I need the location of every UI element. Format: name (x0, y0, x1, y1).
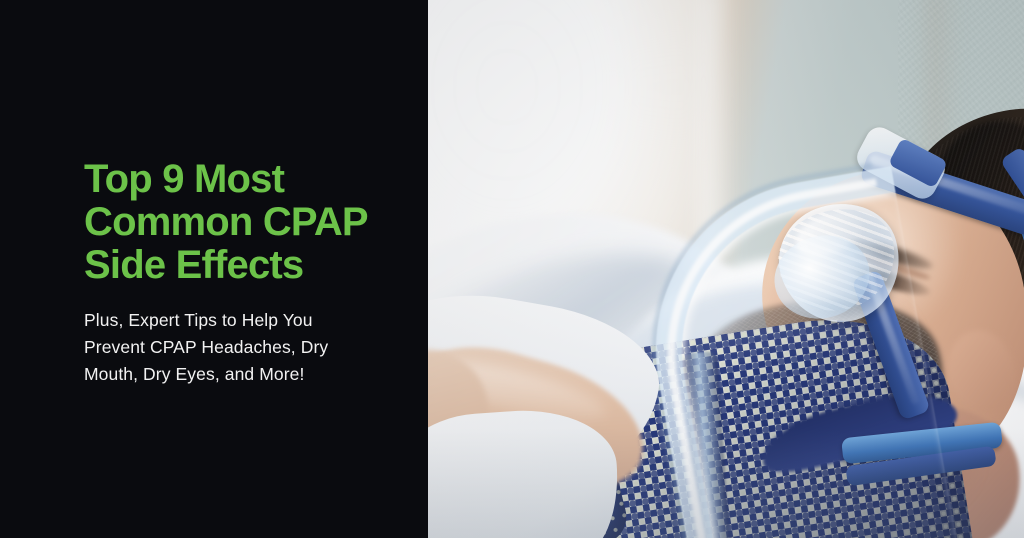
banner-text-block: Top 9 Most Common CPAP Side Effects Plus… (84, 158, 404, 388)
banner-photo (428, 0, 1024, 538)
banner-headline: Top 9 Most Common CPAP Side Effects (84, 158, 404, 287)
banner-text-panel: Top 9 Most Common CPAP Side Effects Plus… (0, 0, 428, 538)
cpap-side-effects-banner: Top 9 Most Common CPAP Side Effects Plus… (0, 0, 1024, 538)
photo-vignette (428, 0, 1024, 538)
banner-subheadline: Plus, Expert Tips to Help You Prevent CP… (84, 307, 404, 388)
